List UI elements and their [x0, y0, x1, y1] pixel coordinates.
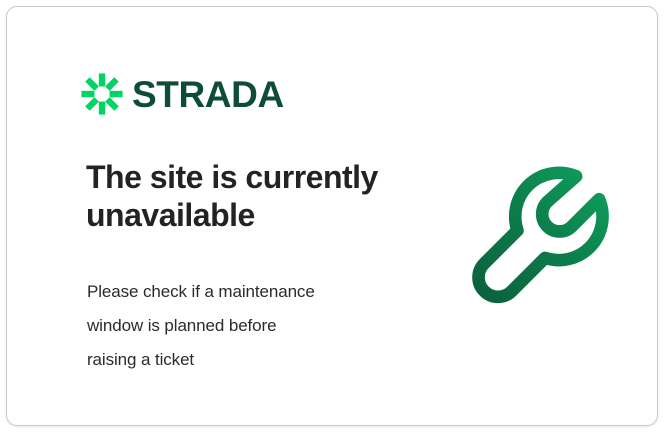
maintenance-page: STRADA The site is currently unavailable…: [0, 0, 666, 436]
page-title: The site is currently unavailable: [86, 159, 426, 235]
brand-wordmark: STRADA: [132, 76, 284, 113]
status-card: STRADA The site is currently unavailable…: [6, 6, 658, 426]
description-line: window is planned before: [87, 309, 397, 343]
description-line: Please check if a maintenance: [87, 275, 397, 309]
wrench-icon: [459, 157, 625, 323]
brand-logo: STRADA: [81, 73, 284, 115]
page-description: Please check if a maintenance window is …: [87, 275, 397, 377]
description-line: raising a ticket: [87, 343, 397, 377]
strada-asterisk-icon: [81, 73, 123, 115]
